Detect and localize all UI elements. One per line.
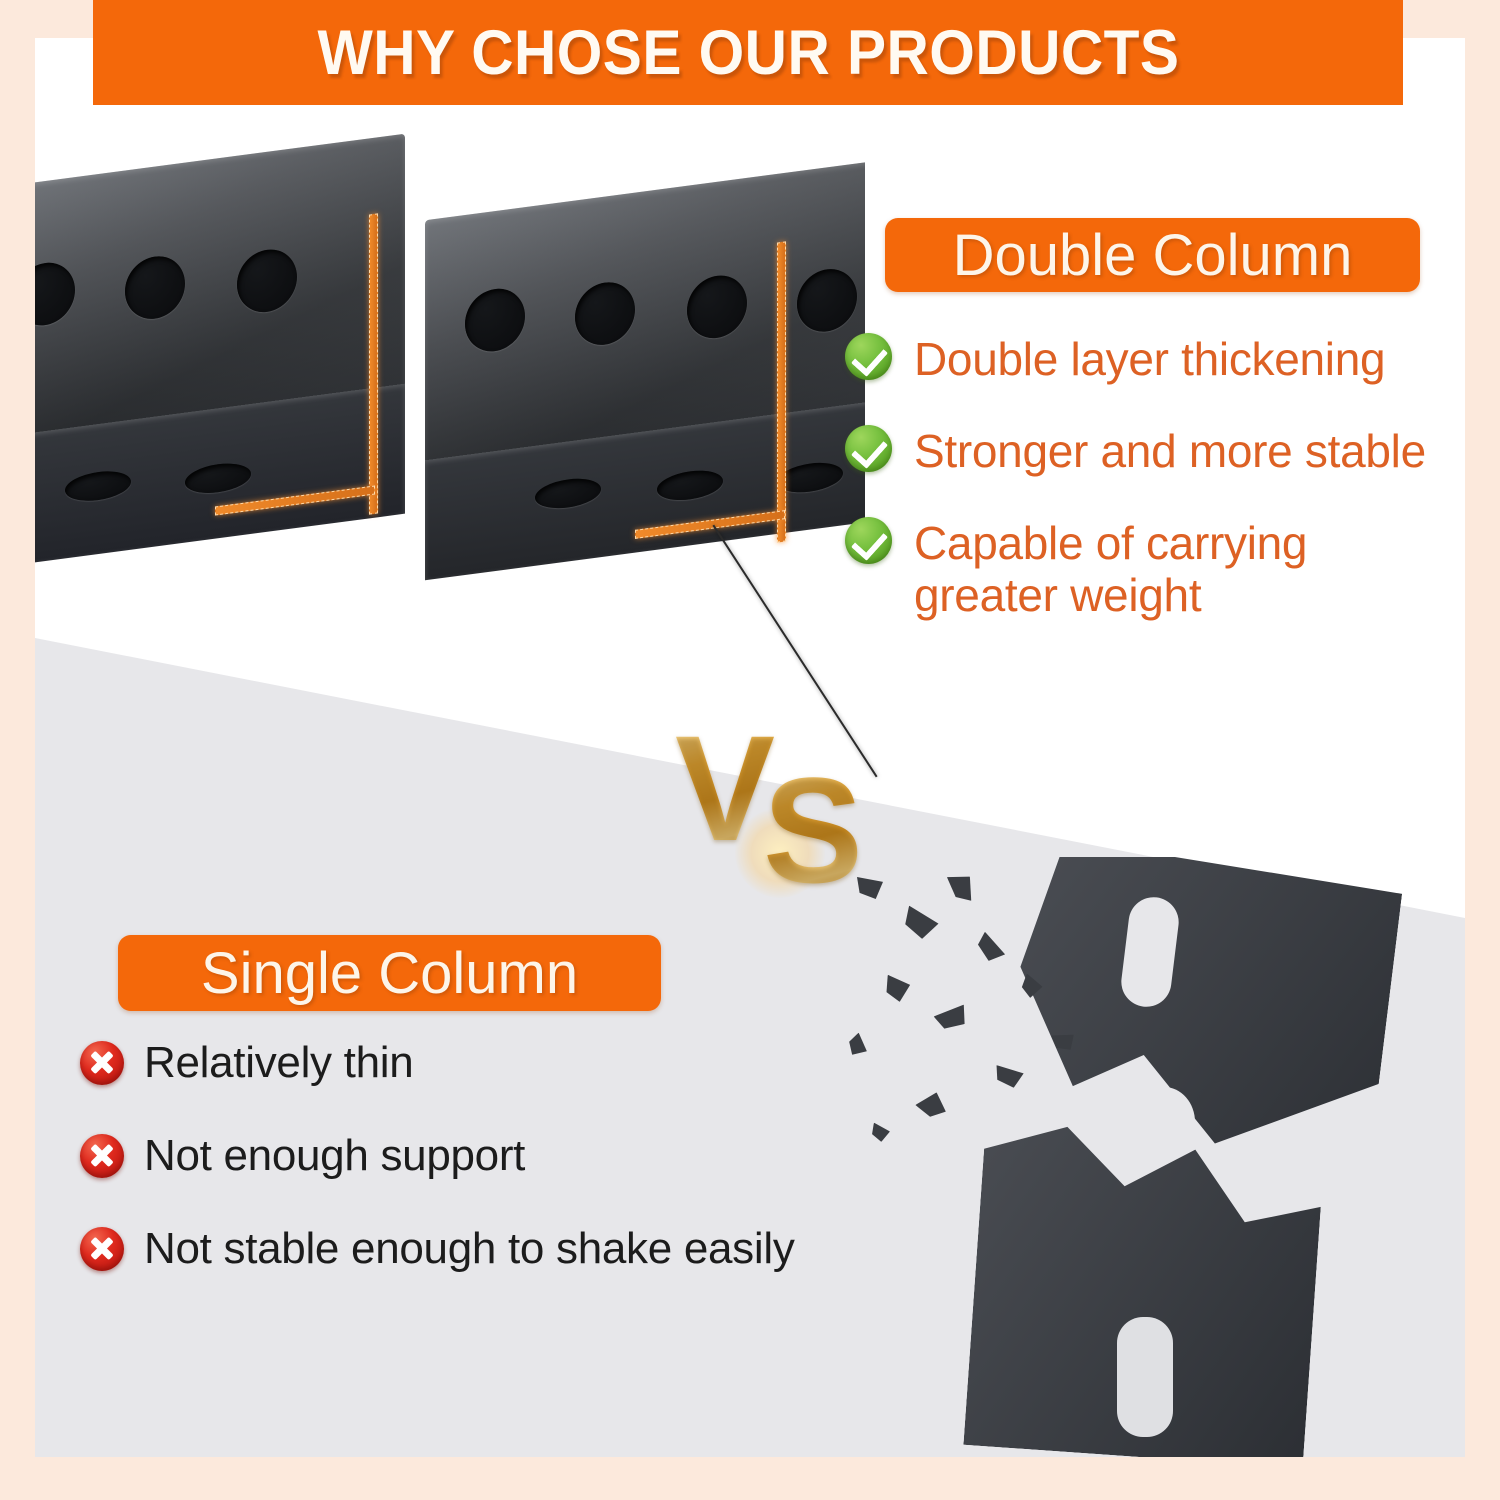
pro-item-text: Capable of carrying greater weight bbox=[914, 517, 1344, 621]
pros-list: Double layer thickening Stronger and mor… bbox=[845, 333, 1445, 661]
pro-item-text: Stronger and more stable bbox=[914, 425, 1426, 477]
list-item: Capable of carrying greater weight bbox=[845, 517, 1445, 621]
list-item: Double layer thickening bbox=[845, 333, 1445, 385]
check-icon bbox=[845, 425, 892, 472]
versus-emblem: V S bbox=[675, 713, 895, 903]
debris-shard bbox=[915, 1088, 950, 1123]
double-column-product-photo bbox=[35, 130, 865, 650]
vs-letter-v: V bbox=[675, 713, 775, 863]
content-card: V S Double Column Double layer thickenin… bbox=[35, 38, 1465, 1457]
debris-shard bbox=[947, 870, 977, 905]
cross-icon bbox=[80, 1041, 124, 1085]
page-title: WHY CHOSE OUR PRODUCTS bbox=[317, 17, 1179, 89]
list-item: Not stable enough to shake easily bbox=[80, 1224, 900, 1274]
vs-letter-s: S bbox=[763, 755, 863, 905]
single-column-label-pill: Single Column bbox=[118, 935, 661, 1011]
list-item: Relatively thin bbox=[80, 1038, 900, 1088]
header-banner: WHY CHOSE OUR PRODUCTS bbox=[93, 0, 1403, 105]
infographic-page: V S Double Column Double layer thickenin… bbox=[0, 0, 1500, 1500]
beam-front-edge-highlight bbox=[369, 213, 378, 514]
con-item-text: Not enough support bbox=[144, 1131, 525, 1181]
keyhole-slot-3 bbox=[1117, 1317, 1173, 1437]
keyhole-slot-2 bbox=[1133, 1087, 1195, 1157]
check-icon bbox=[845, 333, 892, 380]
con-item-text: Not stable enough to shake easily bbox=[144, 1224, 795, 1274]
cross-icon bbox=[80, 1134, 124, 1178]
list-item: Stronger and more stable bbox=[845, 425, 1445, 477]
cons-list: Relatively thin Not enough support Not s… bbox=[80, 1038, 900, 1317]
beam-rear-edge-highlight bbox=[777, 241, 786, 542]
con-item-text: Relatively thin bbox=[144, 1038, 413, 1088]
double-column-label-pill: Double Column bbox=[885, 218, 1420, 292]
list-item: Not enough support bbox=[80, 1131, 900, 1181]
double-column-label: Double Column bbox=[953, 222, 1353, 289]
check-icon bbox=[845, 517, 892, 564]
cross-icon bbox=[80, 1227, 124, 1271]
debris-shard bbox=[934, 1000, 973, 1035]
debris-shard bbox=[899, 906, 940, 943]
single-column-label: Single Column bbox=[201, 940, 578, 1007]
pro-item-text: Double layer thickening bbox=[914, 333, 1385, 385]
single-column-broken-photo bbox=[825, 857, 1465, 1457]
debris-shard bbox=[883, 975, 911, 1003]
debris-shard bbox=[972, 932, 1008, 967]
debris-shard bbox=[994, 1065, 1025, 1089]
